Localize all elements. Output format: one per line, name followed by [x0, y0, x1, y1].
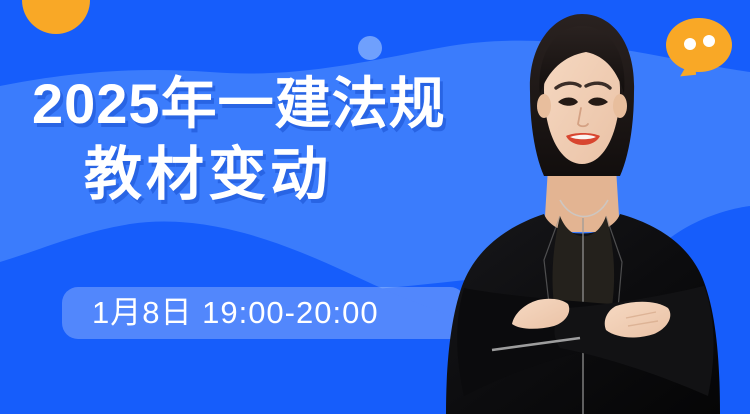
presenter-ear-right: [613, 94, 627, 118]
schedule-text: 1月8日 19:00-20:00: [92, 292, 379, 334]
presenter-ear-left: [537, 94, 551, 118]
light-circle-icon: [358, 36, 382, 60]
presenter-photo: [420, 0, 750, 414]
promo-banner: 2025年一建法规 教材变动 1月8日 19:00-20:00: [0, 0, 750, 414]
